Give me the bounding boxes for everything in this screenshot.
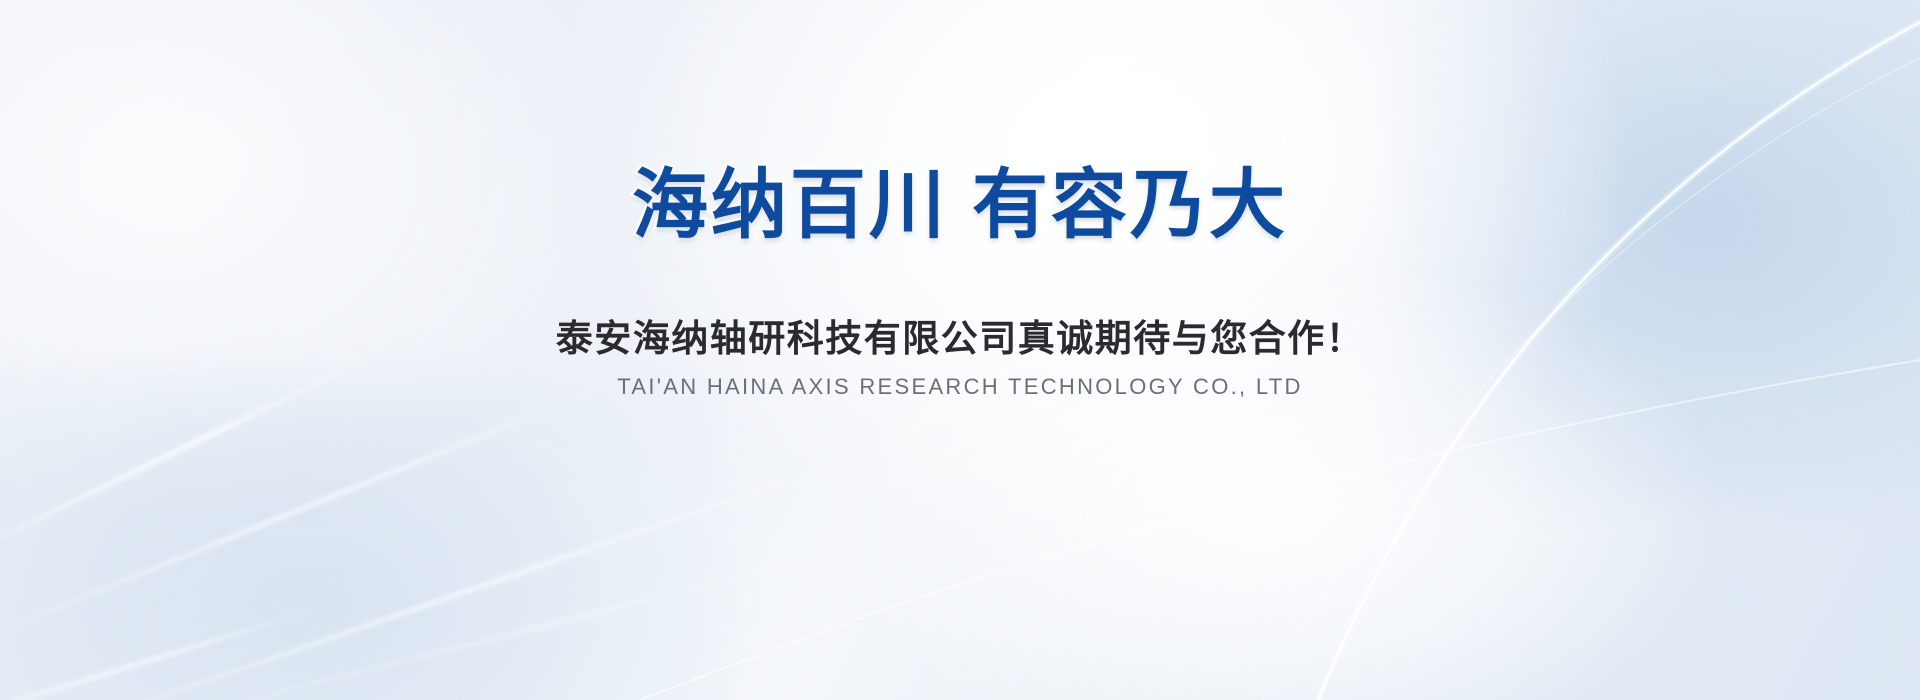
banner-subtitle-english: TAI'AN HAINA AXIS RESEARCH TECHNOLOGY CO… <box>617 376 1302 398</box>
hero-banner: 海纳百川 有容乃大 泰安海纳轴研科技有限公司真诚期待与您合作！ TAI'AN H… <box>0 0 1920 700</box>
banner-subtitle-chinese: 泰安海纳轴研科技有限公司真诚期待与您合作！ <box>556 320 1365 357</box>
banner-headline: 海纳百川 有容乃大 <box>632 168 1288 244</box>
banner-content: 海纳百川 有容乃大 泰安海纳轴研科技有限公司真诚期待与您合作！ TAI'AN H… <box>0 0 1920 700</box>
